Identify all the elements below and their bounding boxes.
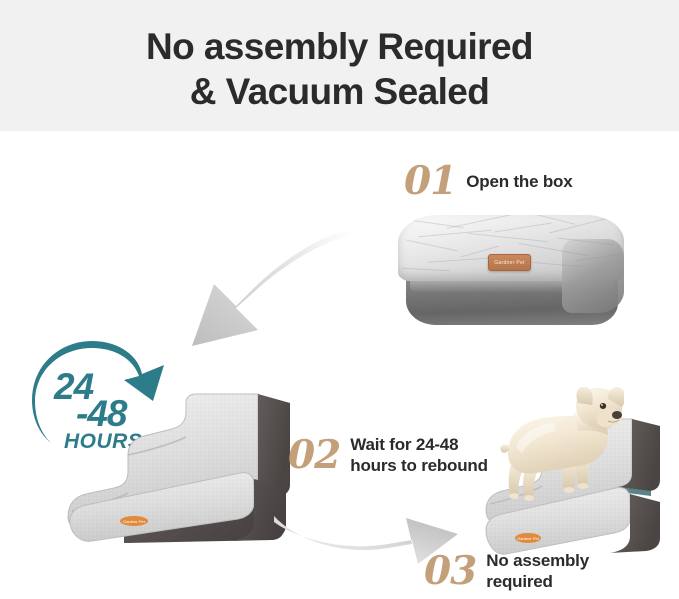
step-number-03: 03 — [424, 552, 476, 591]
step-label-01: 01 Open the box — [404, 162, 573, 201]
step-label-02: 02 Wait for 24-48 hours to rebound — [288, 434, 488, 476]
bag-brand-tag-label: Gardner Pet — [494, 260, 525, 266]
svg-text:Gardner Pet: Gardner Pet — [123, 519, 146, 524]
page-title-line-2: & Vacuum Sealed — [0, 69, 679, 114]
page-title-line-1: No assembly Required — [146, 26, 533, 67]
step-label-03: 03 No assembly required — [424, 550, 589, 592]
step-text-01: Open the box — [466, 171, 572, 192]
step-text-02: Wait for 24-48 hours to rebound — [350, 434, 488, 476]
page-title: No assembly Required & Vacuum Sealed — [0, 24, 679, 114]
infographic-page: No assembly Required & Vacuum Sealed 01 … — [0, 0, 679, 599]
header-band: No assembly Required & Vacuum Sealed — [0, 0, 679, 131]
step-number-01: 01 — [404, 162, 456, 201]
french-bulldog-image — [496, 387, 624, 522]
bag-crinkle-texture — [398, 215, 624, 281]
svg-text:Gardner Pet: Gardner Pet — [517, 536, 540, 541]
bag-brand-tag: Gardner Pet — [488, 254, 531, 271]
step-text-03: No assembly required — [486, 550, 589, 592]
vacuum-sealed-bag-image: Gardner Pet — [396, 215, 628, 333]
arrow-box-to-stairs-icon — [170, 222, 350, 352]
step-number-02: 02 — [288, 436, 340, 475]
